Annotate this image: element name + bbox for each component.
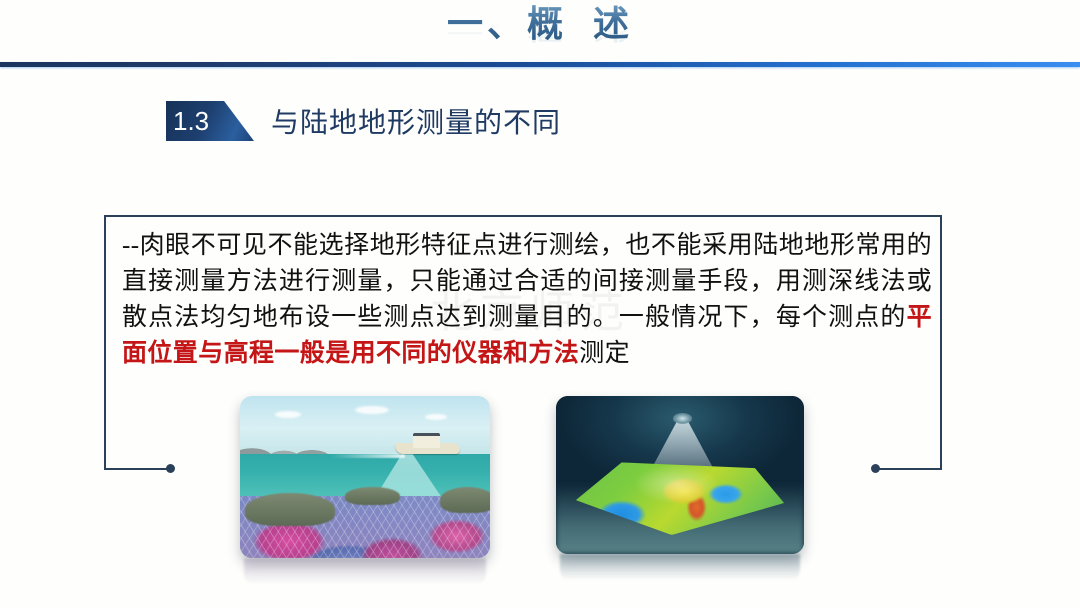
figure-sonar-swath-reflection xyxy=(244,558,486,584)
survey-vessel-cabin xyxy=(413,433,441,447)
page-title: 一、概 述 xyxy=(0,2,1080,46)
header-divider-rule xyxy=(0,62,1080,67)
slide-header: 一、概 述 一、概 述 xyxy=(0,0,1080,70)
seabed-rock xyxy=(440,487,490,513)
seabed-rock xyxy=(345,487,400,505)
section-number-badge: 1.3 xyxy=(166,101,254,141)
frame-edge-left xyxy=(104,215,106,470)
body-paragraph: --肉眼不可见不能选择地形特征点进行测绘，也不能采用陆地地形常用的直接测量方法进… xyxy=(122,228,932,372)
frame-edge-right xyxy=(940,215,942,470)
cloud-icon xyxy=(275,411,301,418)
frame-terminator-dot-right xyxy=(871,464,880,473)
frame-edge-top xyxy=(104,215,942,217)
section-heading: 1.3 与陆地地形测量的不同 xyxy=(166,101,561,141)
vessel-wake xyxy=(330,454,405,459)
body-text-before: --肉眼不可见不能选择地形特征点进行测绘，也不能采用陆地地形常用的直接测量方法进… xyxy=(122,232,932,331)
section-number-label: 1.3 xyxy=(166,101,209,141)
section-heading-text: 与陆地地形测量的不同 xyxy=(271,101,561,141)
seabed-rock xyxy=(245,493,335,525)
figure-bathymetry-reflection xyxy=(560,554,800,580)
figure-bathymetry xyxy=(556,396,804,554)
cloud-icon xyxy=(355,406,389,414)
frame-terminator-dot-left xyxy=(166,464,175,473)
cloud-icon xyxy=(425,414,447,420)
frame-edge-bottom-left xyxy=(104,468,170,470)
figure-sonar-swath xyxy=(240,396,490,558)
frame-edge-bottom-right xyxy=(876,468,942,470)
body-text-after: 测定 xyxy=(579,340,630,367)
